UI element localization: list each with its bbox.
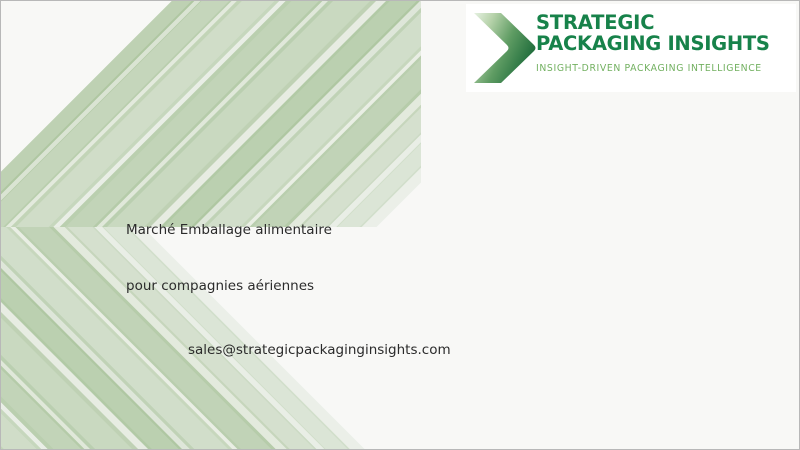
chevron-band bbox=[1, 1, 421, 227]
chevron-band bbox=[1, 227, 398, 450]
chevron-band bbox=[1, 227, 421, 450]
chevron-band bbox=[1, 227, 421, 450]
chevron-band bbox=[1, 1, 358, 227]
chevron-band bbox=[1, 1, 421, 227]
chevron-band bbox=[1, 227, 421, 450]
slide-subtitle: pour compagnies aériennes bbox=[126, 278, 314, 294]
chevron-band bbox=[1, 1, 421, 227]
chevron-band bbox=[1, 227, 421, 450]
chevron-band bbox=[1, 227, 421, 450]
chevron-band bbox=[1, 1, 421, 227]
chevron-band bbox=[1, 1, 421, 227]
chevron-band bbox=[1, 1, 421, 227]
chevron-band bbox=[1, 1, 348, 227]
logo-wordmark: STRATEGIC PACKAGING INSIGHTS INSIGHT-DRI… bbox=[536, 12, 794, 74]
logo-title-line-1: STRATEGIC bbox=[536, 12, 794, 33]
chevron-band bbox=[1, 227, 421, 450]
chevron-band bbox=[1, 227, 421, 450]
chevron-band bbox=[1, 1, 421, 227]
chevron-band bbox=[1, 227, 421, 450]
chevron-band bbox=[1, 1, 421, 227]
company-logo: STRATEGIC PACKAGING INSIGHTS INSIGHT-DRI… bbox=[466, 4, 796, 92]
chevron-band bbox=[1, 227, 421, 450]
chevron-band bbox=[1, 227, 358, 450]
chevron-bands-upper bbox=[1, 1, 421, 227]
contact-email: sales@strategicpackaginginsights.com bbox=[188, 342, 451, 358]
chevron-band bbox=[1, 227, 421, 450]
chevron-band bbox=[1, 1, 421, 227]
chevron-band bbox=[1, 1, 421, 227]
chevron-band bbox=[1, 227, 421, 450]
chevron-band bbox=[1, 227, 421, 450]
title-slide: STRATEGIC PACKAGING INSIGHTS INSIGHT-DRI… bbox=[0, 0, 800, 450]
chevron-band bbox=[1, 1, 398, 227]
slide-title: Marché Emballage alimentaire bbox=[126, 222, 332, 238]
chevron-band bbox=[1, 227, 421, 450]
logo-tagline: INSIGHT-DRIVEN PACKAGING INTELLIGENCE bbox=[536, 63, 794, 74]
logo-title-line-2: PACKAGING INSIGHTS bbox=[536, 33, 794, 54]
chevron-band bbox=[1, 1, 421, 227]
chevron-band bbox=[1, 1, 421, 227]
chevron-band bbox=[1, 1, 421, 227]
chevron-band bbox=[1, 227, 348, 450]
chevron-band bbox=[1, 227, 383, 450]
chevron-logo-mark-icon bbox=[471, 10, 537, 86]
chevron-band bbox=[1, 227, 421, 450]
chevron-band bbox=[1, 227, 421, 450]
chevron-bands-lower bbox=[1, 227, 421, 450]
chevron-band bbox=[1, 1, 421, 227]
chevron-band bbox=[1, 1, 421, 227]
chevron-band bbox=[1, 227, 421, 450]
chevron-band bbox=[1, 1, 421, 227]
chevron-band bbox=[1, 1, 383, 227]
